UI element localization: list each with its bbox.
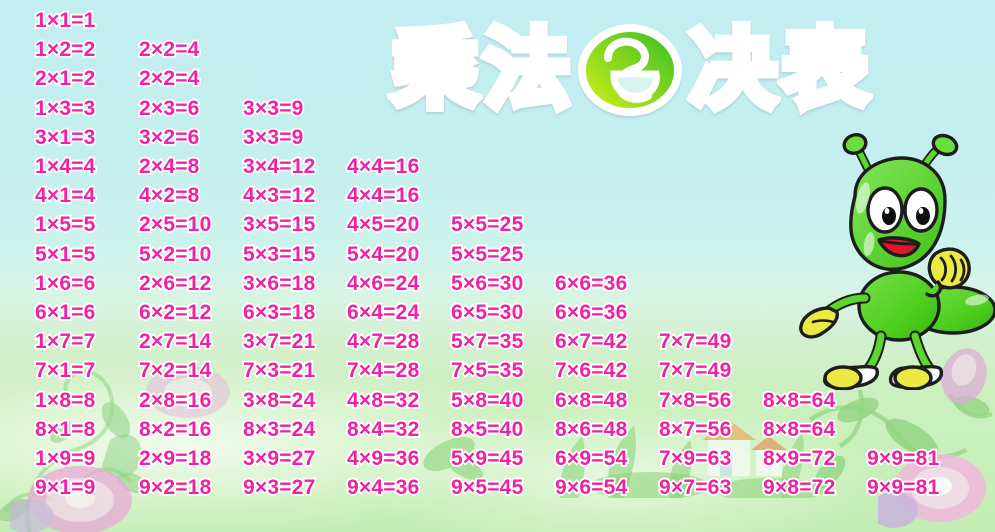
multiplication-fact: 9×7=63 xyxy=(659,473,731,502)
multiplication-fact: 2×5=10 xyxy=(139,210,211,239)
table-row: 1×5=52×5=103×5=154×5=205×5=25 xyxy=(0,210,995,239)
multiplication-fact: 7×6=42 xyxy=(555,356,627,385)
multiplication-fact: 5×3=15 xyxy=(243,240,315,269)
multiplication-fact: 5×4=20 xyxy=(347,240,419,269)
multiplication-fact: 6×6=36 xyxy=(555,269,627,298)
multiplication-fact: 4×2=8 xyxy=(139,181,200,210)
multiplication-fact: 7×5=35 xyxy=(451,356,523,385)
multiplication-fact: 7×2=14 xyxy=(139,356,211,385)
table-row: 1×3=32×3=63×3=9 xyxy=(0,94,995,123)
multiplication-fact: 6×6=36 xyxy=(555,298,627,327)
multiplication-fact: 1×4=4 xyxy=(35,152,96,181)
table-row: 9×1=99×2=189×3=279×4=369×5=459×6=549×7=6… xyxy=(0,473,995,502)
multiplication-fact: 2×2=4 xyxy=(139,64,200,93)
multiplication-fact: 7×7=49 xyxy=(659,327,731,356)
multiplication-fact: 8×6=48 xyxy=(555,415,627,444)
multiplication-fact: 4×5=20 xyxy=(347,210,419,239)
multiplication-fact: 5×2=10 xyxy=(139,240,211,269)
table-row: 6×1=66×2=126×3=186×4=246×5=306×6=36 xyxy=(0,298,995,327)
table-row: 1×4=42×4=83×4=124×4=16 xyxy=(0,152,995,181)
multiplication-fact: 5×5=25 xyxy=(451,240,523,269)
table-row: 7×1=77×2=147×3=217×4=287×5=357×6=427×7=4… xyxy=(0,356,995,385)
table-row: 1×1=1 xyxy=(0,6,995,35)
multiplication-fact: 3×3=9 xyxy=(243,123,304,152)
multiplication-fact: 9×9=81 xyxy=(867,444,939,473)
multiplication-fact: 2×2=4 xyxy=(139,35,200,64)
multiplication-table: 1×1=11×2=22×2=42×1=22×2=41×3=32×3=63×3=9… xyxy=(0,0,995,532)
multiplication-fact: 8×5=40 xyxy=(451,415,523,444)
multiplication-fact: 3×7=21 xyxy=(243,327,315,356)
multiplication-fact: 9×8=72 xyxy=(763,473,835,502)
multiplication-fact: 2×6=12 xyxy=(139,269,211,298)
multiplication-fact: 6×8=48 xyxy=(555,386,627,415)
multiplication-fact: 5×1=5 xyxy=(35,240,96,269)
multiplication-fact: 2×9=18 xyxy=(139,444,211,473)
table-row: 3×1=33×2=63×3=9 xyxy=(0,123,995,152)
multiplication-fact: 3×2=6 xyxy=(139,123,200,152)
multiplication-fact: 7×8=56 xyxy=(659,386,731,415)
multiplication-fact: 8×7=56 xyxy=(659,415,731,444)
multiplication-fact: 6×3=18 xyxy=(243,298,315,327)
multiplication-fact: 4×8=32 xyxy=(347,386,419,415)
multiplication-fact: 6×7=42 xyxy=(555,327,627,356)
multiplication-fact: 2×8=16 xyxy=(139,386,211,415)
multiplication-fact: 1×5=5 xyxy=(35,210,96,239)
multiplication-fact: 3×3=9 xyxy=(243,94,304,123)
table-row: 1×9=92×9=183×9=274×9=365×9=456×9=547×9=6… xyxy=(0,444,995,473)
multiplication-fact: 7×3=21 xyxy=(243,356,315,385)
multiplication-fact: 4×9=36 xyxy=(347,444,419,473)
multiplication-fact: 9×1=9 xyxy=(35,473,96,502)
multiplication-fact: 1×1=1 xyxy=(35,6,96,35)
multiplication-fact: 6×4=24 xyxy=(347,298,419,327)
multiplication-fact: 8×9=72 xyxy=(763,444,835,473)
multiplication-fact: 7×1=7 xyxy=(35,356,96,385)
multiplication-fact: 2×4=8 xyxy=(139,152,200,181)
multiplication-fact: 8×2=16 xyxy=(139,415,211,444)
multiplication-table-poster: 乘 法 决 表 xyxy=(0,0,995,532)
multiplication-fact: 5×9=45 xyxy=(451,444,523,473)
multiplication-fact: 5×7=35 xyxy=(451,327,523,356)
multiplication-fact: 2×3=6 xyxy=(139,94,200,123)
multiplication-fact: 3×9=27 xyxy=(243,444,315,473)
multiplication-fact: 6×9=54 xyxy=(555,444,627,473)
multiplication-fact: 7×7=49 xyxy=(659,356,731,385)
multiplication-fact: 8×1=8 xyxy=(35,415,96,444)
table-row: 5×1=55×2=105×3=155×4=205×5=25 xyxy=(0,240,995,269)
multiplication-fact: 6×2=12 xyxy=(139,298,211,327)
multiplication-fact: 1×3=3 xyxy=(35,94,96,123)
multiplication-fact: 9×9=81 xyxy=(867,473,939,502)
multiplication-fact: 2×1=2 xyxy=(35,64,96,93)
multiplication-fact: 5×5=25 xyxy=(451,210,523,239)
multiplication-fact: 9×5=45 xyxy=(451,473,523,502)
multiplication-fact: 8×3=24 xyxy=(243,415,315,444)
multiplication-fact: 4×1=4 xyxy=(35,181,96,210)
multiplication-fact: 3×6=18 xyxy=(243,269,315,298)
table-row: 1×2=22×2=4 xyxy=(0,35,995,64)
multiplication-fact: 1×7=7 xyxy=(35,327,96,356)
multiplication-fact: 9×6=54 xyxy=(555,473,627,502)
multiplication-fact: 1×9=9 xyxy=(35,444,96,473)
multiplication-fact: 5×6=30 xyxy=(451,269,523,298)
multiplication-fact: 4×4=16 xyxy=(347,152,419,181)
multiplication-fact: 9×2=18 xyxy=(139,473,211,502)
multiplication-fact: 1×8=8 xyxy=(35,386,96,415)
multiplication-fact: 2×7=14 xyxy=(139,327,211,356)
table-row: 8×1=88×2=168×3=248×4=328×5=408×6=488×7=5… xyxy=(0,415,995,444)
multiplication-fact: 8×4=32 xyxy=(347,415,419,444)
multiplication-fact: 4×3=12 xyxy=(243,181,315,210)
multiplication-fact: 6×5=30 xyxy=(451,298,523,327)
table-row: 4×1=44×2=84×3=124×4=16 xyxy=(0,181,995,210)
multiplication-fact: 1×6=6 xyxy=(35,269,96,298)
multiplication-fact: 4×6=24 xyxy=(347,269,419,298)
multiplication-fact: 9×3=27 xyxy=(243,473,315,502)
multiplication-fact: 8×8=64 xyxy=(763,386,835,415)
multiplication-fact: 3×5=15 xyxy=(243,210,315,239)
multiplication-fact: 3×8=24 xyxy=(243,386,315,415)
multiplication-fact: 6×1=6 xyxy=(35,298,96,327)
multiplication-fact: 4×7=28 xyxy=(347,327,419,356)
multiplication-fact: 5×8=40 xyxy=(451,386,523,415)
multiplication-fact: 3×1=3 xyxy=(35,123,96,152)
multiplication-fact: 1×2=2 xyxy=(35,35,96,64)
multiplication-fact: 3×4=12 xyxy=(243,152,315,181)
table-row: 1×6=62×6=123×6=184×6=245×6=306×6=36 xyxy=(0,269,995,298)
multiplication-fact: 7×9=63 xyxy=(659,444,731,473)
table-row: 1×7=72×7=143×7=214×7=285×7=356×7=427×7=4… xyxy=(0,327,995,356)
table-row: 2×1=22×2=4 xyxy=(0,64,995,93)
multiplication-fact: 8×8=64 xyxy=(763,415,835,444)
multiplication-fact: 9×4=36 xyxy=(347,473,419,502)
multiplication-fact: 7×4=28 xyxy=(347,356,419,385)
multiplication-fact: 4×4=16 xyxy=(347,181,419,210)
table-row: 1×8=82×8=163×8=244×8=325×8=406×8=487×8=5… xyxy=(0,386,995,415)
